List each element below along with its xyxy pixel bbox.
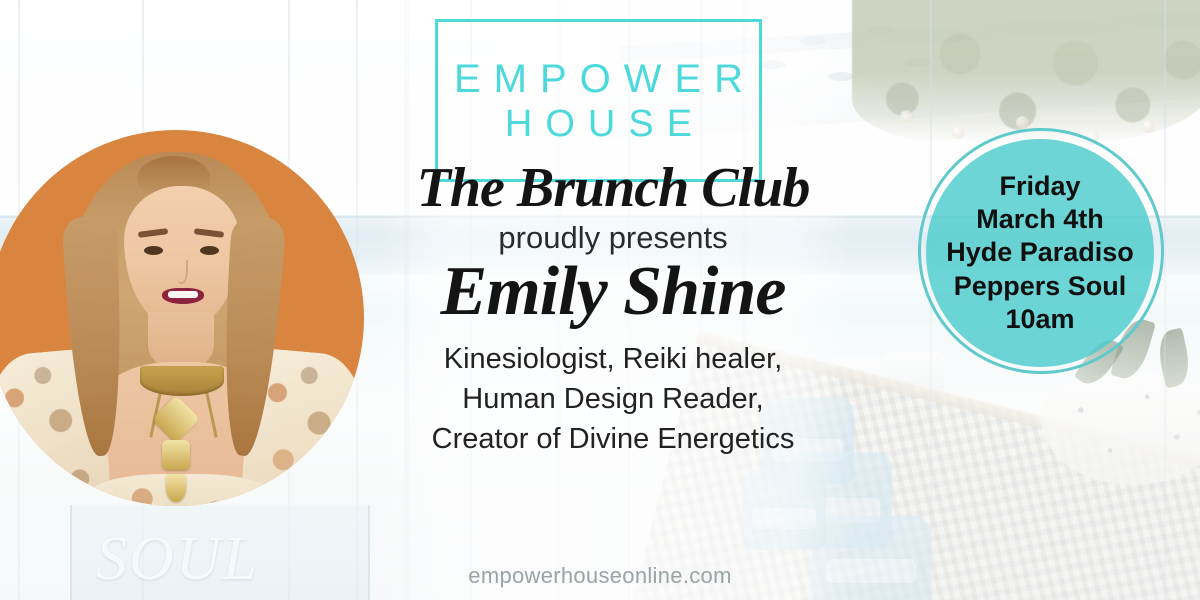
club-name: The Brunch Club xyxy=(378,160,848,216)
necklace-gem xyxy=(162,440,190,470)
event-date: March 4th xyxy=(976,203,1104,236)
website-url[interactable]: empowerhouseonline.com xyxy=(0,563,1200,589)
neck xyxy=(148,312,214,368)
speaker-portrait xyxy=(0,130,364,506)
event-day: Friday xyxy=(999,170,1080,203)
logo-line-house: HOUSE xyxy=(492,105,705,143)
event-time: 10am xyxy=(1005,303,1074,336)
event-venue: Hyde Paradiso xyxy=(946,236,1134,269)
event-flyer: SOUL xyxy=(0,0,1200,600)
credential-line: Kinesiologist, Reiki healer, xyxy=(378,339,848,379)
eyebrow-left xyxy=(138,228,169,238)
presents-label: proudly presents xyxy=(378,222,848,255)
event-badge: Friday March 4th Hyde Paradiso Peppers S… xyxy=(926,139,1154,367)
eye-right xyxy=(200,246,219,255)
guest-name: Emily Shine xyxy=(378,257,848,327)
portrait-artwork xyxy=(0,130,364,506)
teeth xyxy=(168,291,198,298)
eyebrow-right xyxy=(194,228,225,238)
logo-line-empower: EMPOWER xyxy=(441,59,756,99)
credential-line: Human Design Reader, xyxy=(378,379,848,419)
eye-left xyxy=(144,246,163,255)
nose xyxy=(178,260,188,284)
main-text-block: The Brunch Club proudly presents Emily S… xyxy=(378,160,848,459)
necklace-collar xyxy=(140,366,224,396)
necklace-gem xyxy=(166,474,186,502)
credential-line: Creator of Divine Energetics xyxy=(378,419,848,459)
event-location: Peppers Soul xyxy=(954,270,1127,303)
credentials-list: Kinesiologist, Reiki healer, Human Desig… xyxy=(378,339,848,459)
